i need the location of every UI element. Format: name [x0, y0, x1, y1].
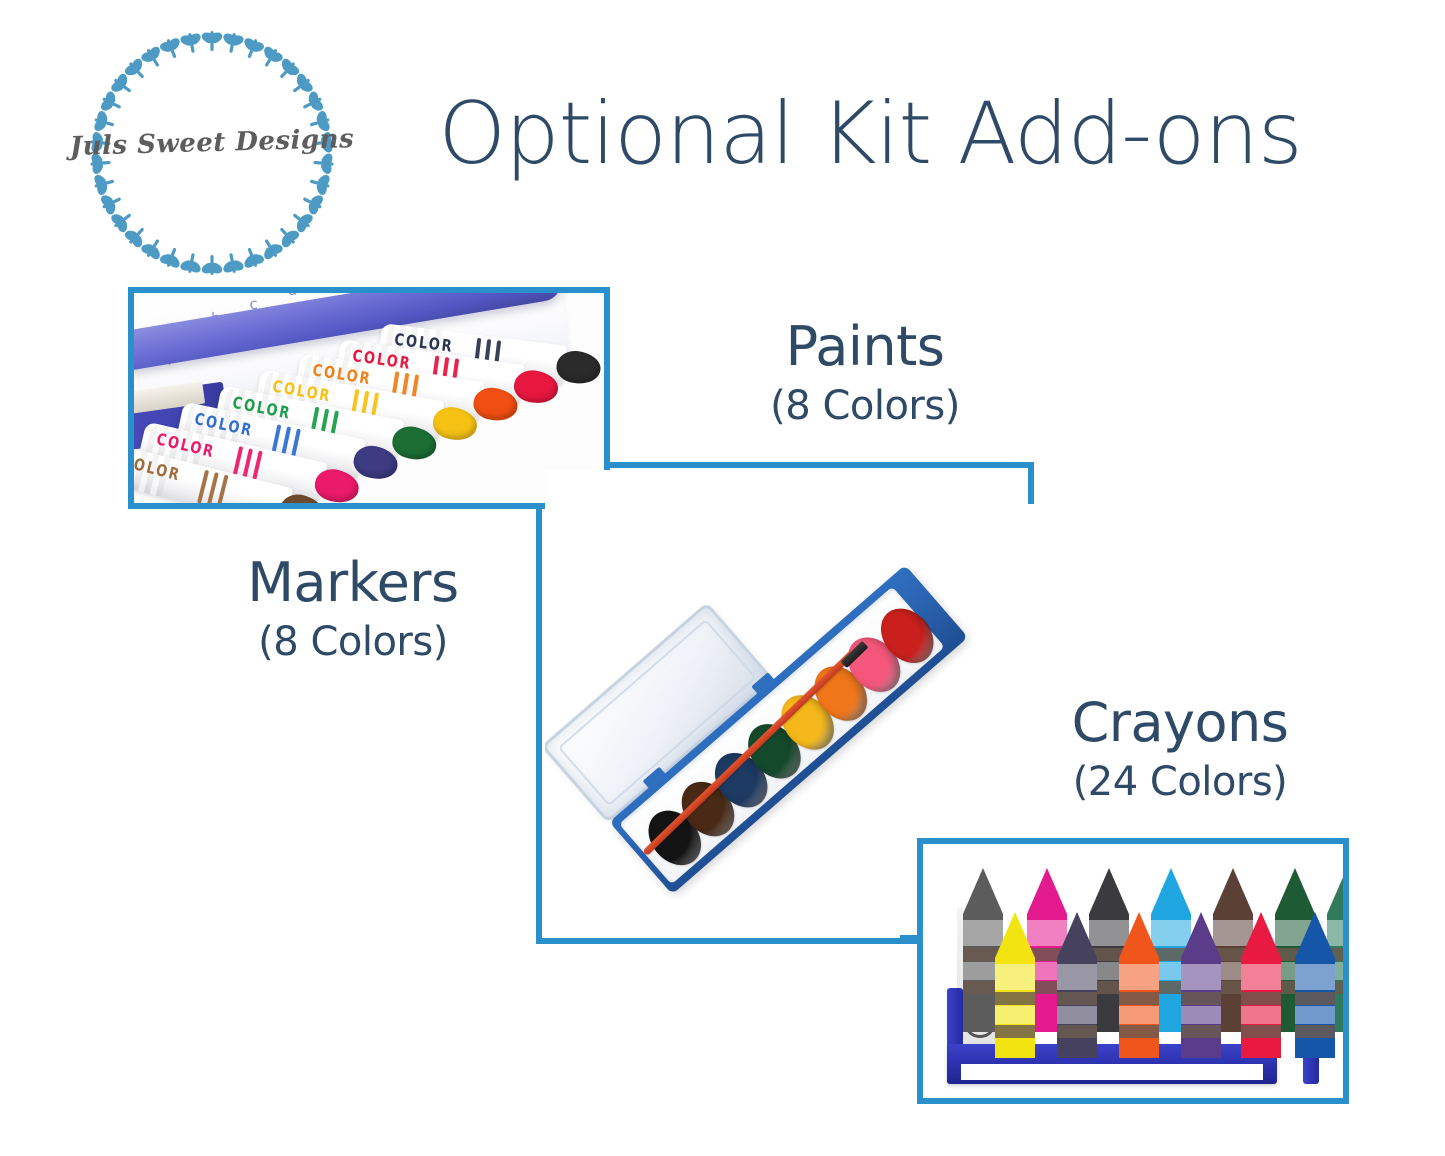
crayons-label-title: Crayons [1010, 692, 1350, 754]
markers-photo: a b c d e f g h i j k l m COLORCOLORCOLO… [134, 293, 604, 503]
crayon-wrapper-light [995, 1006, 1035, 1024]
crayon-body [1057, 958, 1097, 1058]
crayon-body [1119, 958, 1159, 1058]
crayon-front-3 [1119, 912, 1159, 1058]
crayon-wrapper-light [1057, 1006, 1097, 1024]
crayon-tip [1343, 912, 1349, 958]
crayon-wrapper-light [1119, 964, 1159, 990]
crayon-wrapper-band [1057, 992, 1097, 1005]
crayon-wrapper-band [1057, 1025, 1097, 1038]
crayon-body [1241, 958, 1281, 1058]
paints-label-count: (8 Colors) [700, 378, 1030, 434]
crayon-tip [963, 868, 1003, 914]
brand-logo: Juls Sweet Designs [62, 20, 362, 282]
crayon-wrapper-band [1343, 992, 1349, 1005]
crayon-body [1295, 958, 1335, 1058]
crayon-wrapper-band [1295, 1025, 1335, 1038]
crayon-body [1181, 958, 1221, 1058]
crayon-front-7 [1343, 912, 1349, 1058]
markers-label-count: (8 Colors) [188, 614, 518, 670]
crayon-wrapper-band [1119, 992, 1159, 1005]
crayon-wrapper-band [1295, 992, 1335, 1005]
markers-label-title: Markers [188, 552, 518, 614]
crayon-body [995, 958, 1035, 1058]
crayon-tip [1327, 868, 1349, 914]
crayon-body [1343, 958, 1349, 1058]
crayon-front-4 [1181, 912, 1221, 1058]
crayon-wrapper-light [1295, 964, 1335, 990]
poster-canvas: Juls Sweet Designs Optional Kit Add-ons … [0, 0, 1445, 1156]
crayon-wrapper-light [1343, 1006, 1349, 1024]
crayon-wrapper-band [995, 992, 1035, 1005]
crayon-wrapper-light [1181, 964, 1221, 990]
crayon-wrapper-band [1241, 992, 1281, 1005]
crayons-photo-frame [917, 838, 1349, 1104]
crayon-wrapper-light [995, 964, 1035, 990]
page-title: Optional Kit Add-ons [420, 86, 1320, 182]
crayon-tip [1213, 868, 1253, 914]
crayon-front-1 [995, 912, 1035, 1058]
paints-label-title: Paints [700, 316, 1030, 378]
crayon-wrapper-band [1181, 1025, 1221, 1038]
crayon-tip [1151, 868, 1191, 914]
crayon-tip [1275, 868, 1315, 914]
crayon-tip [1181, 912, 1221, 958]
crayon-front-2 [1057, 912, 1097, 1058]
paints-frame-bottom [536, 938, 924, 944]
crayon-wrapper-light [1119, 1006, 1159, 1024]
crayon-wrapper-band [1119, 1025, 1159, 1038]
crayons-photo [923, 844, 1343, 1098]
crayon-wrapper-light [1241, 1006, 1281, 1024]
paints-label: Paints (8 Colors) [700, 316, 1030, 434]
crayon-tip [1119, 912, 1159, 958]
crayon-wrapper-band [1181, 992, 1221, 1005]
crayon-tip [1027, 868, 1067, 914]
crayon-tip [1295, 912, 1335, 958]
paints-frame-right [1028, 462, 1034, 504]
crayon-wrapper-band [995, 1025, 1035, 1038]
markers-photo-frame: a b c d e f g h i j k l m COLORCOLORCOLO… [128, 287, 610, 509]
crayon-wrapper-light [1295, 1006, 1335, 1024]
crayon-tip [1089, 868, 1129, 914]
crayon-wrapper-band [1343, 1025, 1349, 1038]
markers-label: Markers (8 Colors) [188, 552, 518, 670]
paints-frame-left [536, 503, 542, 944]
crayons-label: Crayons (24 Colors) [1010, 692, 1350, 810]
crayon-tip [995, 912, 1035, 958]
crayon-tip [1241, 912, 1281, 958]
crayon-front-6 [1295, 912, 1335, 1058]
paints-frame-top [536, 462, 1034, 468]
crayon-wrapper-light [1343, 964, 1349, 990]
marker-ring [216, 475, 228, 509]
crayon-wrapper-light [1241, 964, 1281, 990]
crayon-wrapper-light [1057, 964, 1097, 990]
crayon-tip [1057, 912, 1097, 958]
crayons-label-count: (24 Colors) [1010, 754, 1350, 810]
crayon-wrapper-light [1181, 1006, 1221, 1024]
crayon-front-5 [1241, 912, 1281, 1058]
crayon-wrapper-band [1241, 1025, 1281, 1038]
